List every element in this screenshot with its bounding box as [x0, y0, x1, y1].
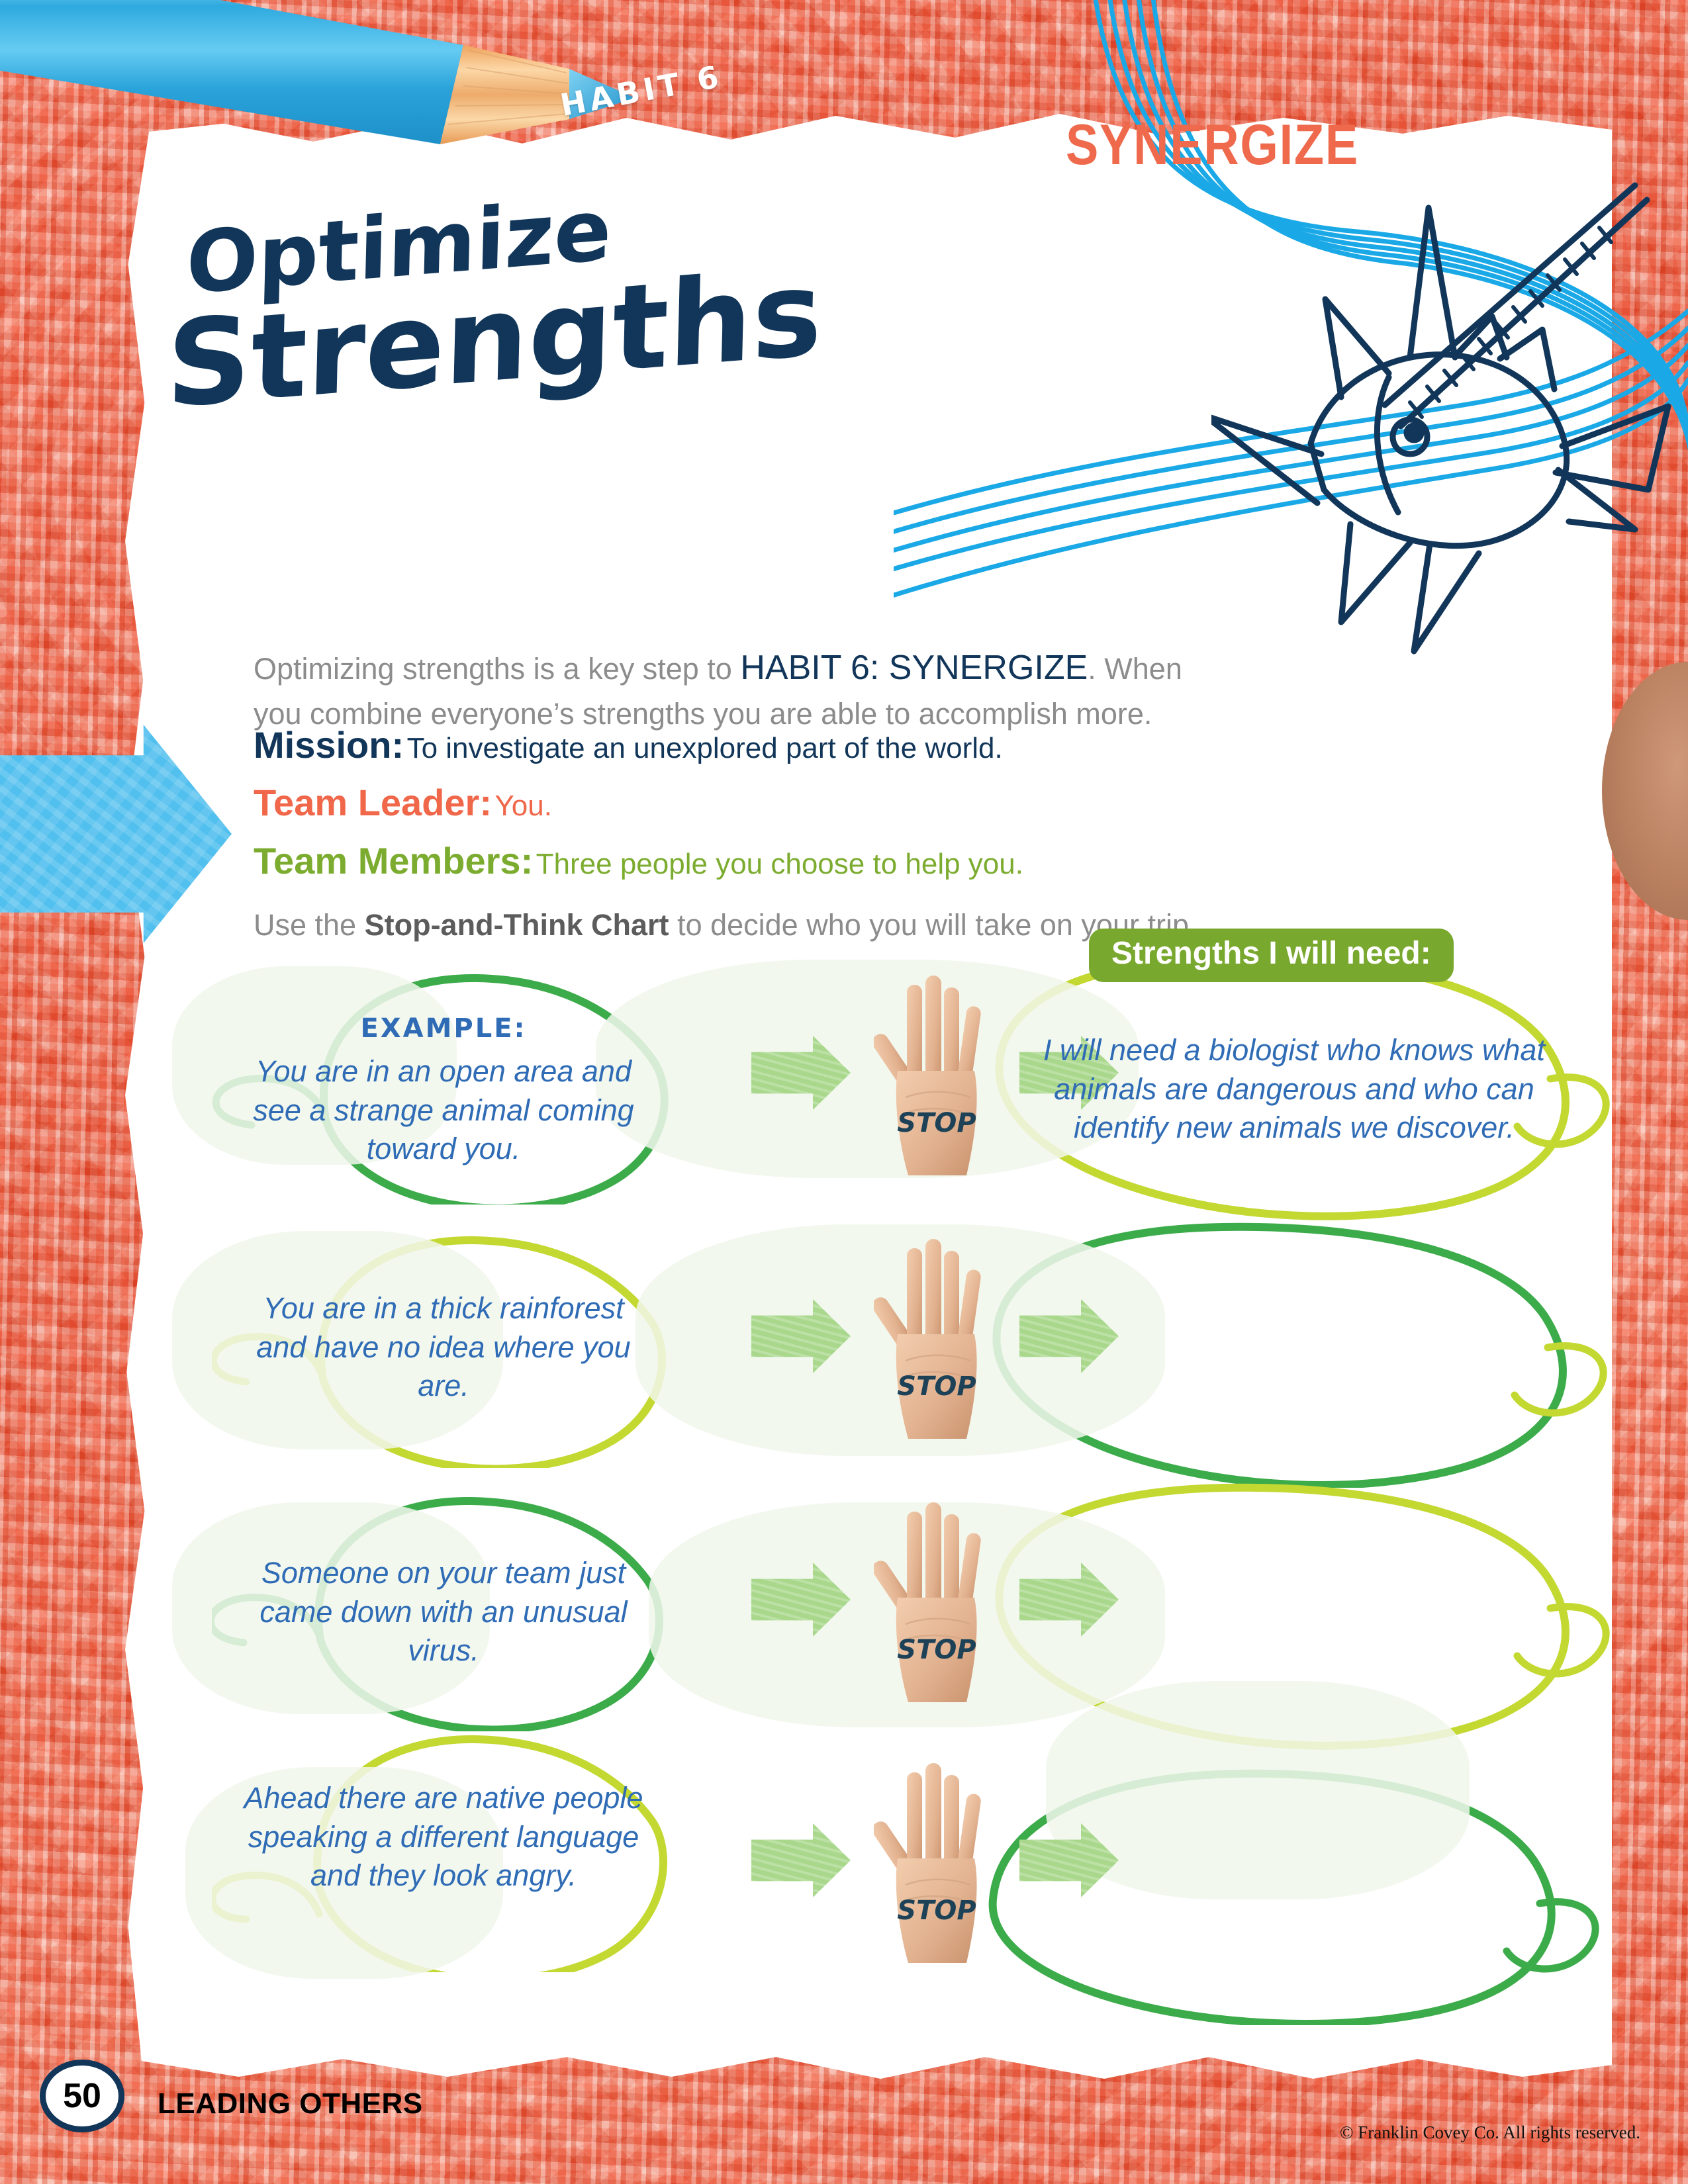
strengths-column-header: Strengths I will need:	[1089, 929, 1454, 982]
mission-value: To investigate an unexplored part of the…	[407, 732, 1003, 764]
copyright-notice: © Franklin Covey Co. All rights reserved…	[1340, 2122, 1640, 2143]
mission-label: Mission:	[254, 724, 404, 766]
habit-name-heading: SYNERGIZE	[1066, 113, 1359, 178]
stop-hand-icon: STOP	[874, 1752, 1000, 1971]
instruction-bold: Stop-and-Think Chart	[365, 908, 669, 942]
page-footer: 50 LEADING OTHERS © Franklin Covey Co. A…	[0, 2032, 1688, 2184]
scenario-text: Someone on your team just came down with…	[238, 1554, 649, 1670]
team-members-value: Three people you choose to help you.	[536, 848, 1023, 880]
stop-word: STOP	[897, 1108, 976, 1138]
intro-before: Optimizing strengths is a key step to	[254, 652, 740, 686]
instruction-line: Use the Stop-and-Think Chart to decide w…	[254, 908, 1197, 942]
team-members-label: Team Members:	[254, 840, 533, 882]
page-number: 50	[63, 2076, 101, 2116]
intro-highlight: HABIT 6: SYNERGIZE	[740, 649, 1088, 687]
strength-text: I will need a biologist who knows what a…	[1006, 1031, 1582, 1148]
scenario-text: Ahead there are native people speaking a…	[238, 1779, 649, 1895]
scenario-text: EXAMPLE: You are in an open area and see…	[238, 1011, 649, 1169]
right-arrow-icon	[751, 1823, 851, 1897]
section-title: LEADING OTHERS	[158, 2087, 423, 2120]
team-leader-value: You.	[494, 790, 551, 822]
stop-hand-icon: STOP	[874, 965, 1000, 1183]
stop-word: STOP	[897, 1895, 976, 1926]
page-number-badge: 50	[40, 2060, 124, 2132]
stop-hand-icon: STOP	[874, 1492, 1000, 1710]
swordfish-sketch-icon	[1211, 159, 1675, 688]
stop-and-think-chart: EXAMPLE: You are in an open area and see…	[132, 953, 1628, 2025]
stop-word: STOP	[897, 1371, 976, 1402]
team-members-row: Team Members: Three people you choose to…	[254, 839, 1023, 882]
mission-row: Mission: To investigate an unexplored pa…	[254, 723, 1003, 766]
example-label: EXAMPLE:	[238, 1011, 649, 1046]
team-leader-row: Team Leader: You.	[254, 781, 552, 824]
page-title: Optimize Strengths	[165, 199, 823, 395]
stop-word: STOP	[897, 1635, 976, 1665]
instruction-before: Use the	[254, 908, 365, 942]
team-leader-label: Team Leader:	[254, 782, 492, 823]
intro-paragraph: Optimizing strengths is a key step to HA…	[254, 644, 1194, 735]
scenario-text: You are in a thick rainforest and have n…	[238, 1289, 649, 1406]
stop-hand-icon: STOP	[874, 1228, 1000, 1447]
